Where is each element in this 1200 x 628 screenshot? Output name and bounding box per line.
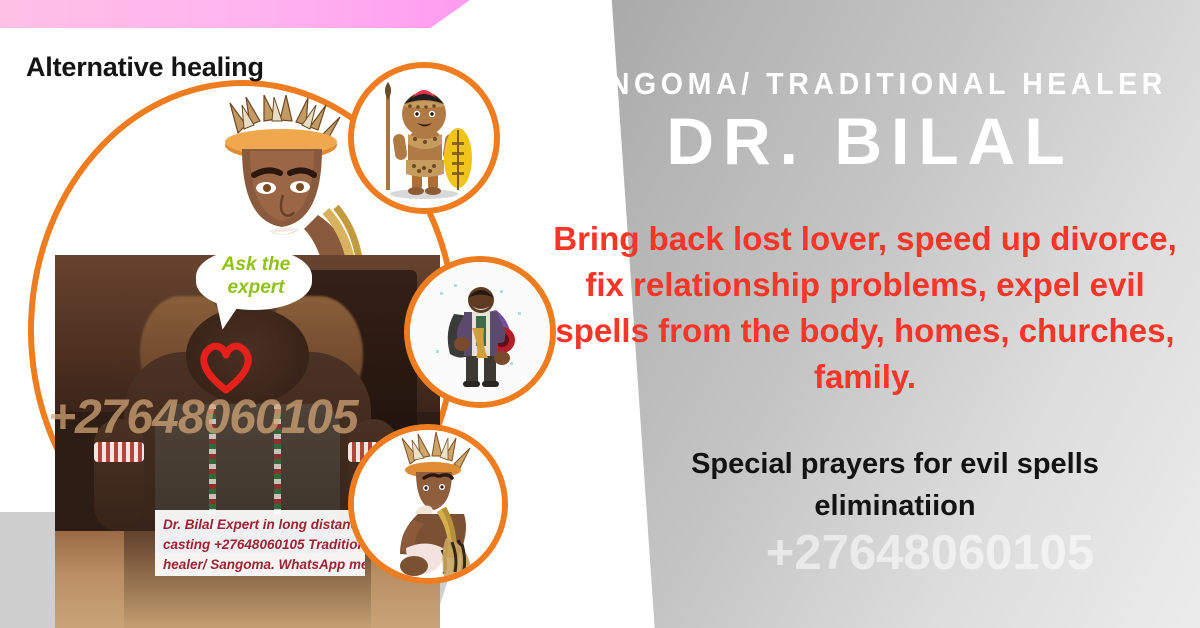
- crouching-warrior-icon: [354, 430, 504, 580]
- circle-zulu-warrior-cartoon: [348, 62, 500, 214]
- poster-canvas: Alternative healing: [0, 0, 1200, 628]
- speech-bubble-label: Ask the expert: [200, 253, 312, 299]
- zulu-warrior-cartoon-icon: [354, 68, 494, 208]
- circle-crouching-warrior: [348, 424, 508, 584]
- photo-caption-box: Dr. Bilal Expert in long distance castin…: [155, 510, 365, 576]
- traditional-healer-figure-icon: [410, 262, 550, 402]
- photo-phone-watermark: +27648060105: [48, 390, 358, 445]
- page-title: Alternative healing: [26, 52, 264, 83]
- brand-name: DR. BILAL: [560, 106, 1180, 176]
- circle-traditional-healer-figure: [404, 256, 556, 408]
- special-offer-text: Special prayers for evil spells eliminat…: [610, 443, 1180, 527]
- pink-banner: [0, 0, 470, 30]
- photo-caption-text: Dr. Bilal Expert in long distance castin…: [163, 515, 365, 575]
- kicker-text: SANGOMA/ TRADITIONAL HEALER: [560, 66, 1130, 102]
- services-text: Bring back lost lover, speed up divorce,…: [540, 216, 1190, 400]
- phone-watermark: +27648060105: [660, 525, 1200, 581]
